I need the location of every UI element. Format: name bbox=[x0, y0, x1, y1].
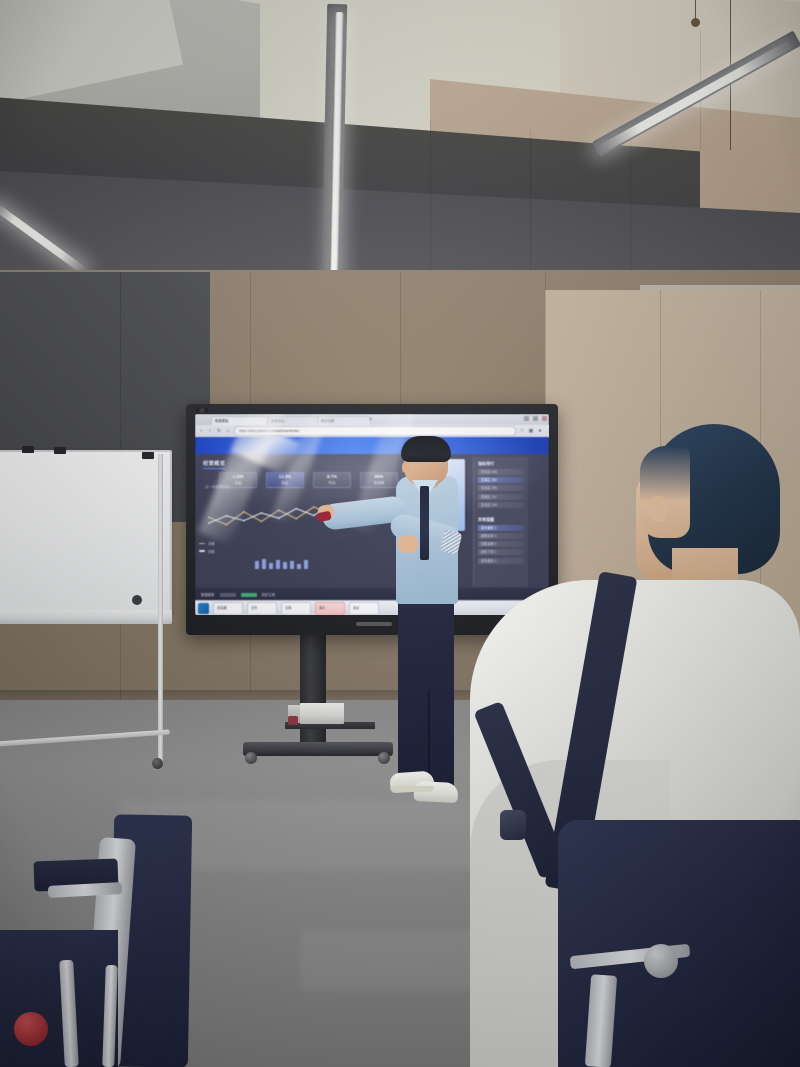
mini-bar-chart[interactable] bbox=[255, 559, 308, 569]
mini-bar bbox=[262, 559, 266, 569]
side-row-top-2[interactable]: 华北区 295 bbox=[478, 485, 524, 491]
kpi-card-1[interactable]: 12.4% 同比 bbox=[266, 472, 304, 488]
side-row-bottom-1[interactable]: 超期未审 2 bbox=[478, 533, 524, 539]
side-row-bottom-4[interactable]: 成本超标 2 bbox=[478, 558, 524, 564]
whiteboard-caster bbox=[152, 758, 163, 769]
dashboard-section-title: 经营概览 bbox=[203, 460, 225, 467]
tv-stand-base bbox=[243, 742, 393, 756]
legend-label-1: 同期 bbox=[208, 549, 215, 554]
display-camera-icon bbox=[196, 408, 208, 413]
address-bar[interactable]: https://data.platform.cn/dashboard/index bbox=[234, 426, 516, 436]
whiteboard-surface[interactable] bbox=[0, 450, 172, 614]
forward-icon[interactable]: › bbox=[207, 428, 213, 434]
ceiling-seam bbox=[630, 140, 631, 270]
display-brand-logo bbox=[356, 622, 392, 626]
profile-icon[interactable]: ● bbox=[537, 428, 543, 434]
window-controls[interactable] bbox=[524, 416, 547, 421]
kpi-label-0: 总量 bbox=[234, 481, 241, 485]
taskbar-item-1[interactable]: 文件 bbox=[247, 602, 277, 615]
ceiling-seam bbox=[530, 130, 531, 270]
reload-icon[interactable]: ↻ bbox=[216, 428, 222, 434]
presenter-shoe-right bbox=[414, 781, 459, 803]
taskbar-item-2[interactable]: 文档 bbox=[281, 602, 311, 615]
foreground-chair-seat[interactable] bbox=[0, 930, 118, 1067]
mini-bar bbox=[283, 562, 287, 569]
chart-caption: 近一年趋势对比 bbox=[205, 485, 230, 490]
dashboard-side-panel[interactable]: 指标排行 华东区 418 华南区 362 华北区 295 西南区 211 东北区… bbox=[473, 457, 528, 593]
dashboard-hero-banner bbox=[195, 437, 549, 454]
whiteboard-pivot-knob[interactable] bbox=[132, 595, 142, 605]
kpi-value-2: 8.7% bbox=[314, 474, 350, 480]
side-row-top-1[interactable]: 华南区 362 bbox=[478, 477, 524, 483]
bookmark-icon[interactable]: ☆ bbox=[519, 428, 525, 434]
side-row-top-4[interactable]: 东北区 160 bbox=[478, 502, 524, 508]
tv-stand-caster bbox=[378, 752, 390, 764]
kpi-value-1: 12.4% bbox=[267, 474, 303, 480]
kpi-card-2[interactable]: 8.7% 环比 bbox=[313, 472, 351, 488]
whiteboard-clip[interactable] bbox=[22, 446, 34, 453]
kpi-value-0: 1,286 bbox=[220, 474, 256, 480]
side-row-top-0[interactable]: 华东区 418 bbox=[478, 469, 524, 475]
footer-status-bar bbox=[241, 593, 257, 597]
kpi-label-1: 同比 bbox=[281, 481, 288, 485]
legend-label-0: 本期 bbox=[208, 541, 215, 546]
foreground-chair-adjust-knob[interactable] bbox=[14, 1012, 48, 1046]
side-panel-title-bottom: 异常提醒 bbox=[478, 517, 528, 523]
kpi-value-3: 93% bbox=[361, 474, 397, 480]
dashboard-footer: 数据更新 同步正常 bbox=[195, 587, 549, 600]
presenter-hair bbox=[401, 436, 451, 462]
chart-legend: 本期 同期 bbox=[199, 541, 215, 554]
whiteboard-marker-tray bbox=[0, 610, 172, 624]
side-row-top-3[interactable]: 西南区 211 bbox=[478, 494, 524, 500]
ceiling-seam bbox=[430, 120, 431, 270]
legend-swatch-1 bbox=[199, 550, 205, 552]
menu-icon[interactable]: ⋮ bbox=[546, 428, 549, 434]
whiteboard-base-rail bbox=[0, 729, 170, 747]
whiteboard-clip[interactable] bbox=[54, 447, 66, 454]
legend-item-1: 同期 bbox=[199, 549, 215, 554]
whiteboard-upright-post bbox=[158, 454, 163, 764]
pendant-ceiling-mount bbox=[691, 18, 700, 27]
os-taskbar[interactable]: 浏览器 文件 文档 演示 会议 ▲ ♪ ▭ 14:26 bbox=[195, 600, 549, 615]
hero-glare bbox=[230, 437, 299, 476]
extension-icons[interactable]: ☆ ▣ ● ⋮ bbox=[519, 428, 549, 434]
footer-badge-right: 同步正常 bbox=[262, 592, 276, 597]
mini-bar bbox=[269, 563, 273, 569]
tv-stand-caster bbox=[245, 752, 257, 764]
start-button[interactable] bbox=[198, 603, 209, 614]
mini-bar bbox=[304, 560, 308, 569]
mini-bar bbox=[290, 561, 294, 569]
side-panel-title-top: 指标排行 bbox=[478, 461, 528, 467]
taskbar-item-3[interactable]: 演示 bbox=[315, 602, 345, 615]
new-tab-button[interactable]: + bbox=[367, 417, 374, 424]
section-title-underline bbox=[203, 468, 225, 469]
presenter-necktie bbox=[420, 486, 429, 560]
presenter-shoe-sole bbox=[392, 786, 434, 792]
minimize-button[interactable] bbox=[524, 416, 529, 421]
taskbar-item-4[interactable]: 会议 bbox=[349, 602, 379, 615]
photo-scene: 数据看板 运营中心 统计分析 + ‹ › ↻ ⌂ https://data.pl… bbox=[0, 0, 800, 1067]
presenter-resting-hand bbox=[398, 535, 418, 553]
puzzle-icon[interactable]: ▣ bbox=[528, 428, 534, 434]
presenter-ear bbox=[402, 462, 410, 473]
viewer-hairline bbox=[640, 446, 690, 538]
shelf-device-red bbox=[288, 716, 298, 725]
close-button[interactable] bbox=[542, 416, 547, 421]
viewer-strap-buckle bbox=[500, 810, 526, 840]
side-row-bottom-0[interactable]: 库存偏低 3 bbox=[478, 525, 524, 531]
shelf-device-main bbox=[300, 703, 344, 724]
legend-item-0: 本期 bbox=[199, 541, 215, 546]
presenter-trousers bbox=[398, 596, 454, 792]
back-icon[interactable]: ‹ bbox=[198, 428, 204, 434]
whiteboard[interactable] bbox=[0, 440, 188, 790]
footer-badge-left: 数据更新 bbox=[201, 592, 215, 597]
maximize-button[interactable] bbox=[533, 416, 538, 421]
home-icon[interactable]: ⌂ bbox=[225, 428, 231, 434]
mini-bar bbox=[297, 564, 301, 569]
kpi-card-3[interactable]: 93% 完成率 bbox=[360, 472, 398, 488]
kpi-label-3: 完成率 bbox=[374, 481, 385, 485]
kpi-label-2: 环比 bbox=[328, 481, 335, 485]
viewer-chair-hub[interactable] bbox=[644, 944, 678, 978]
taskbar-item-0[interactable]: 浏览器 bbox=[213, 602, 243, 615]
side-row-bottom-2[interactable]: 回款逾期 4 bbox=[478, 541, 524, 547]
footer-progress-bar bbox=[220, 593, 236, 597]
viewer-ear bbox=[648, 496, 668, 522]
legend-swatch-0 bbox=[199, 543, 205, 545]
side-row-bottom-3[interactable]: 转化下滑 1 bbox=[478, 549, 524, 555]
whiteboard-clip[interactable] bbox=[142, 452, 154, 459]
mini-bar bbox=[276, 560, 280, 569]
mini-bar bbox=[255, 561, 259, 569]
